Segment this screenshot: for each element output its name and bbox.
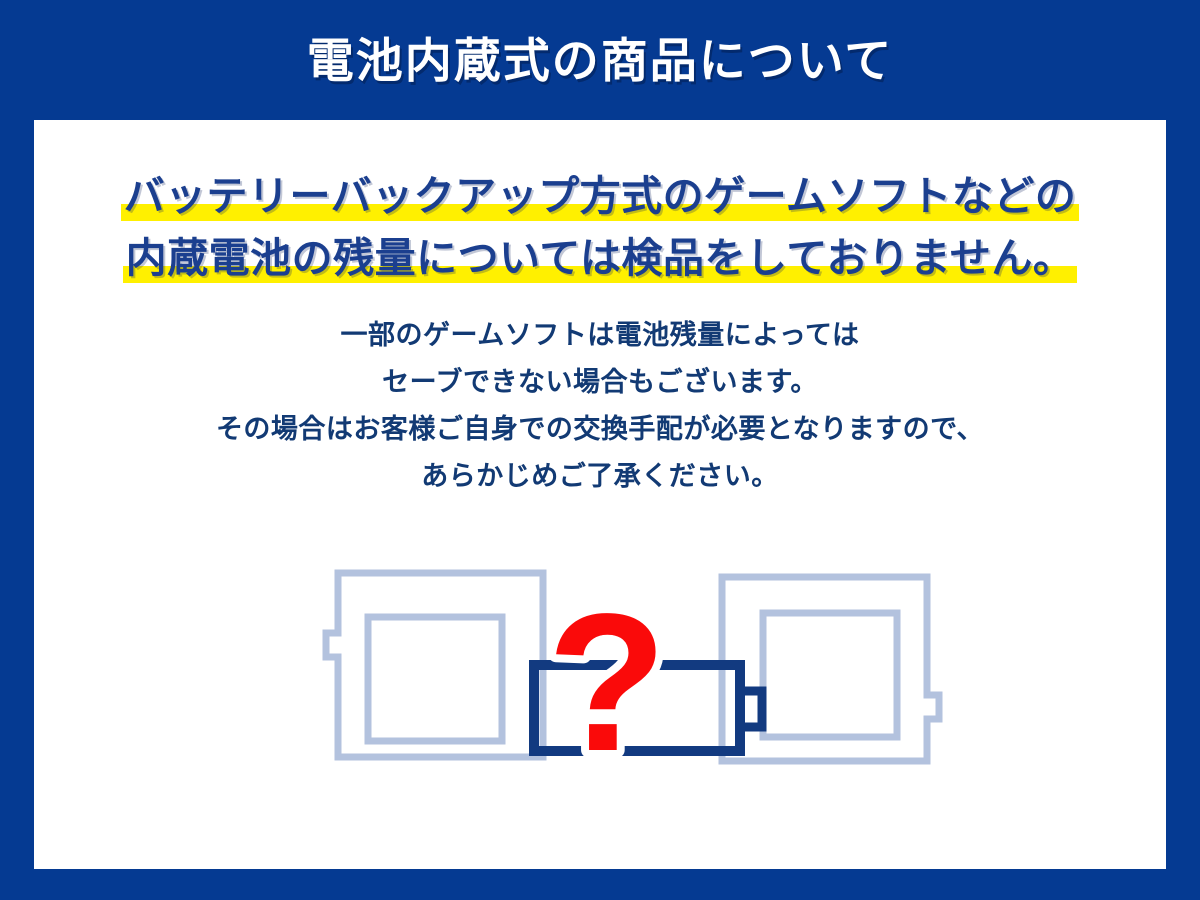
page-title: 電池内蔵式の商品について	[307, 37, 894, 84]
headline-line-2: 内蔵電池の残量については検品をしておりません。	[34, 227, 1166, 289]
content-card: バッテリーバックアップ方式のゲームソフトなどの 内蔵電池の残量については検品をし…	[34, 120, 1166, 869]
body-paragraph: 一部のゲームソフトは電池残量によっては セーブできない場合もございます。 その場…	[34, 312, 1166, 500]
illustration: ? ?	[300, 545, 960, 805]
body-line-4: あらかじめご了承ください。	[34, 453, 1166, 500]
headline-line-1-text: バッテリーバックアップ方式のゲームソフトなどの	[121, 165, 1080, 227]
headline: バッテリーバックアップ方式のゲームソフトなどの 内蔵電池の残量については検品をし…	[34, 165, 1166, 289]
body-line-1: 一部のゲームソフトは電池残量によっては	[34, 312, 1166, 359]
game-cartridge-left-icon	[326, 573, 543, 757]
question-mark-icon: ? ?	[547, 573, 667, 792]
title-bar: 電池内蔵式の商品について	[0, 0, 1200, 120]
game-cartridge-right-icon	[722, 577, 939, 761]
headline-line-1: バッテリーバックアップ方式のゲームソフトなどの	[34, 165, 1166, 227]
svg-text:?: ?	[547, 573, 667, 792]
poster: 電池内蔵式の商品について バッテリーバックアップ方式のゲームソフトなどの 内蔵電…	[0, 0, 1200, 900]
headline-line-2-text: 内蔵電池の残量については検品をしておりません。	[123, 227, 1078, 289]
body-line-3: その場合はお客様ご自身での交換手配が必要となりますので、	[34, 406, 1166, 453]
body-line-2: セーブできない場合もございます。	[34, 359, 1166, 406]
